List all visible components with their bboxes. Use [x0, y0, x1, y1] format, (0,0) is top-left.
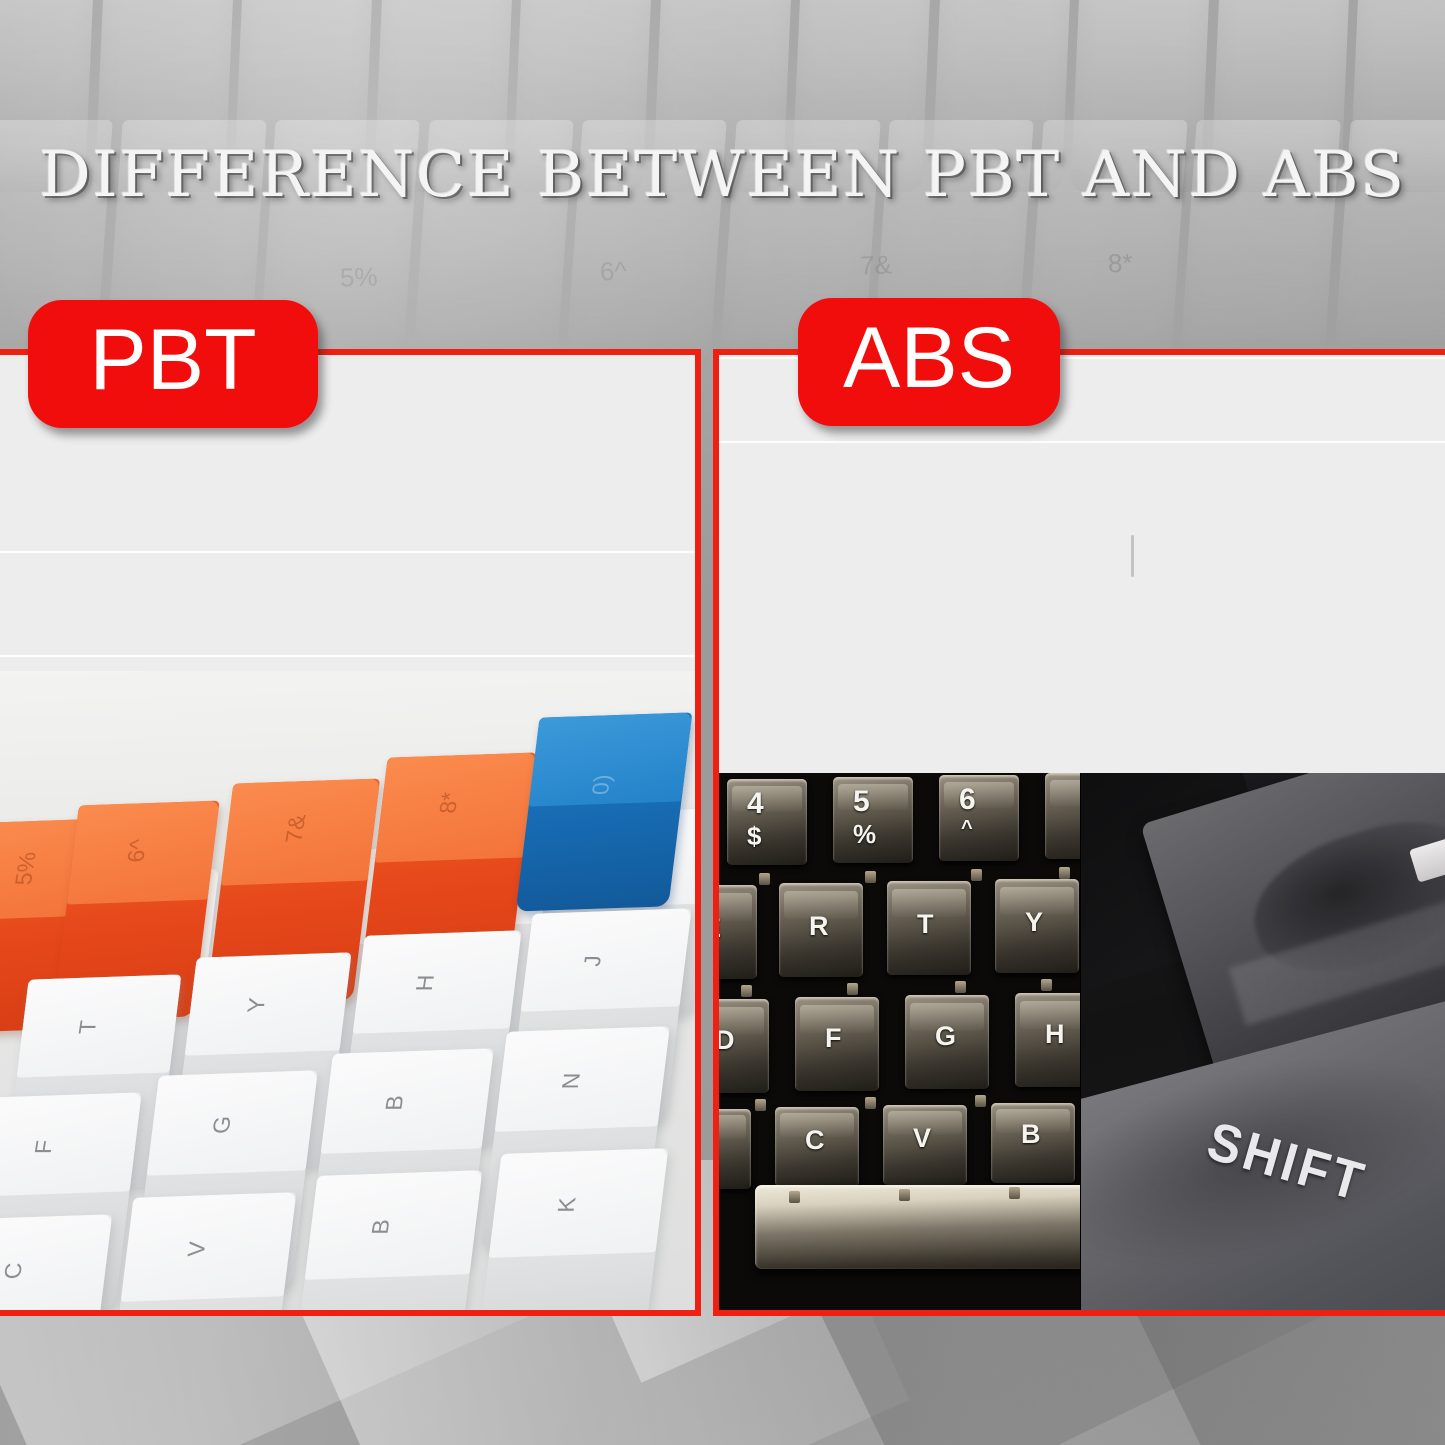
worn-keycap-legend: $: [747, 821, 761, 852]
keycap-legend: Y: [242, 997, 271, 1012]
keycap-legend: V: [182, 1241, 211, 1256]
keycap-legend: F: [29, 1140, 58, 1154]
keycap-legend: 0): [586, 774, 616, 794]
worn-keycap: [727, 779, 807, 865]
worn-keycap-legend: D: [719, 1025, 735, 1056]
keycap-white: K: [474, 1148, 669, 1310]
worn-keycap: [719, 1109, 751, 1189]
pbt-panel: 8 7 U I 5% 6^ 7& 8*: [0, 349, 701, 1316]
worn-keycap-legend: B: [1021, 1119, 1041, 1150]
keycap-legend: 5%: [10, 852, 42, 885]
abs-shift-key-photo: SHIFT: [1081, 773, 1445, 1310]
worn-keycap-legend: C: [805, 1125, 825, 1156]
worn-keycap: [939, 775, 1019, 861]
abs-dark-keyboard-photo: 4 $ 5 % 6 ^ E R T: [719, 773, 1081, 1310]
pbt-badge-label: PBT: [89, 311, 256, 410]
keycap-legend: T: [73, 1020, 102, 1034]
keycap-white: V: [106, 1192, 297, 1310]
worn-keycap-legend: E: [719, 913, 721, 944]
worn-keycap-legend: F: [825, 1023, 842, 1054]
worn-spacebar: [755, 1185, 1081, 1269]
worn-keycap-legend: H: [1045, 1019, 1065, 1050]
keycap-legend: G: [207, 1116, 237, 1134]
keycap-legend: 6^: [122, 839, 153, 863]
worn-keycap-legend: 4: [747, 787, 764, 821]
keycap-legend: H: [411, 975, 441, 992]
worn-keycap-legend: Y: [1025, 907, 1043, 938]
worn-keycap-legend: 5: [853, 785, 870, 819]
keycap-legend: B: [366, 1219, 395, 1234]
pbt-keycaps-photo: 8 7 U I 5% 6^ 7& 8*: [0, 671, 695, 1310]
worn-keycap-legend: R: [809, 911, 829, 942]
worn-keycap: [719, 885, 757, 979]
page-title: DIFFERENCE BETWEEN PBT AND ABS: [0, 138, 1445, 211]
abs-badge[interactable]: ABS: [798, 298, 1060, 426]
pbt-badge[interactable]: PBT: [28, 300, 318, 428]
keycap-legend: B: [380, 1095, 409, 1110]
keycap-white: B: [290, 1170, 483, 1310]
worn-keycap-legend: 6: [959, 783, 976, 817]
keycap-legend: K: [552, 1197, 581, 1212]
worn-keycap: [1045, 773, 1081, 859]
poster-canvas: 5% 6^ 7& 8* DIFFERENCE BETWEEN PBT AND A…: [0, 0, 1445, 1445]
worn-keycap-legend: ^: [961, 817, 973, 840]
abs-worn-keycaps-photo: 4 $ 5 % 6 ^ E R T: [719, 773, 1445, 1310]
keycap-legend: C: [0, 1263, 28, 1280]
abs-badge-label: ABS: [843, 309, 1015, 408]
worn-keycap-legend: T: [917, 909, 934, 940]
abs-panel: 4 $ 5 % 6 ^ E R T: [713, 349, 1445, 1316]
keycap-white: C: [0, 1214, 112, 1310]
keycap-legend: N: [557, 1073, 587, 1090]
keycap-legend: J: [578, 955, 607, 967]
keycap-legend: 7&: [280, 815, 311, 843]
worn-keycap-legend: V: [913, 1123, 931, 1154]
worn-keycap-legend: G: [935, 1021, 956, 1052]
abs-faint-mark: [1131, 535, 1134, 577]
keycap-blue: 0): [516, 712, 693, 911]
worn-keycap-legend: %: [853, 819, 876, 850]
keycap-legend: 8*: [434, 792, 464, 814]
